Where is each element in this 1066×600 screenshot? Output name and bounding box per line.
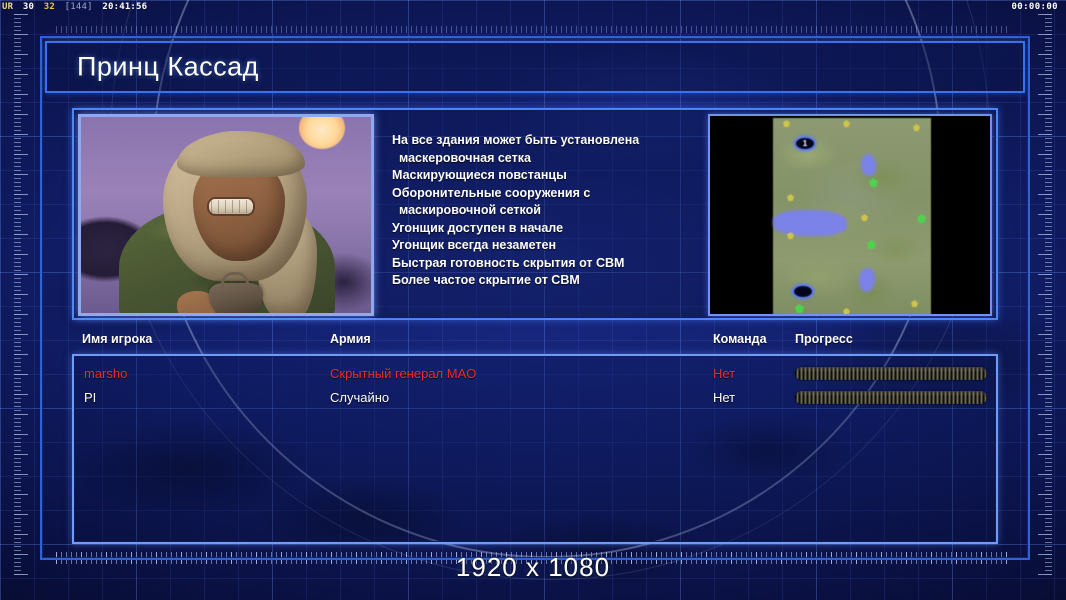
resolution-watermark: 1920 x 1080 [0,552,1066,583]
map-resource-marker [843,120,850,127]
clock-readout: 00:00:00 [1011,0,1058,14]
player-name[interactable]: marsho [84,362,127,386]
map-terrain: 1 [773,118,931,316]
player-list-panel: marshoСкрытный генерал MAOНетPIСлучайноН… [72,354,998,544]
general-info-panel: На все здания может быть установленамаск… [72,108,998,320]
map-resource-marker [867,240,876,249]
lobby-dialog: Принц Кассад На вс [40,36,1030,560]
map-water-small-south [859,268,875,292]
player-progress-bar [795,367,987,380]
map-resource-marker [795,304,804,313]
general-portrait [78,114,374,316]
hud-bracket: [144] [63,0,95,14]
ability-line: маскеровочная сетка [392,150,698,168]
page-title: Принц Кассад [77,52,259,83]
ruler-left [14,14,28,578]
player-team[interactable]: Нет [713,386,735,410]
game-lobby-screen: UR 30 32 [144] 20:41:56 00:00:00 Принц К… [0,0,1066,600]
ability-line: На все здания может быть установлена [392,132,698,150]
player-army[interactable]: Скрытный генерал MAO [330,362,476,386]
map-resource-marker [911,300,918,307]
map-resource-marker [913,124,920,131]
hud-prefix: UR [0,0,15,14]
player-row[interactable]: PIСлучайноНет [74,386,996,410]
player-row[interactable]: marshoСкрытный генерал MAOНет [74,362,996,386]
hud-timestamp: 20:41:56 [100,0,149,14]
column-header-army: Армия [330,332,371,346]
ability-line: Угонщик всегда незаметен [392,237,698,255]
map-start-position[interactable]: 1 [794,136,816,151]
ability-line: Оборонительные сооружения с [392,185,698,203]
map-resource-marker [787,194,794,201]
hud-value-1: 30 [21,0,36,14]
map-resource-marker [783,120,790,127]
map-resource-marker [917,214,926,223]
player-progress-bar [795,391,987,404]
player-list-header: Имя игрока Армия Команда Прогресс [72,332,998,352]
ability-line: маскировочной сеткой [392,202,698,220]
map-water-small-north [861,154,876,176]
player-army[interactable]: Случайно [330,386,389,410]
map-preview: 1 [708,114,992,316]
map-water-large [773,210,847,236]
ability-line: Маскирующиеся повстанцы [392,167,698,185]
hud-value-2: 32 [42,0,57,14]
map-resource-marker [861,214,868,221]
dialog-title-bar: Принц Кассад [45,41,1025,93]
player-name[interactable]: PI [84,386,96,410]
ruler-right [1038,14,1052,578]
ability-line: Угонщик доступен в начале [392,220,698,238]
map-resource-marker [843,308,850,315]
column-header-name: Имя игрока [82,332,152,346]
hud-status-bar: UR 30 32 [144] 20:41:56 00:00:00 [0,0,1066,14]
general-ability-list: На все здания может быть установленамаск… [392,132,698,290]
player-team[interactable]: Нет [713,362,735,386]
ability-line: Более частое скрытие от СВМ [392,272,698,290]
portrait-teeth [209,199,253,214]
map-resource-marker [869,178,878,187]
ability-line: Быстрая готовность скрытия от СВМ [392,255,698,273]
portrait-teapot [209,283,263,316]
ruler-top [56,26,1010,33]
map-start-position[interactable] [792,284,814,299]
column-header-progress: Прогресс [795,332,853,346]
column-header-team: Команда [713,332,767,346]
